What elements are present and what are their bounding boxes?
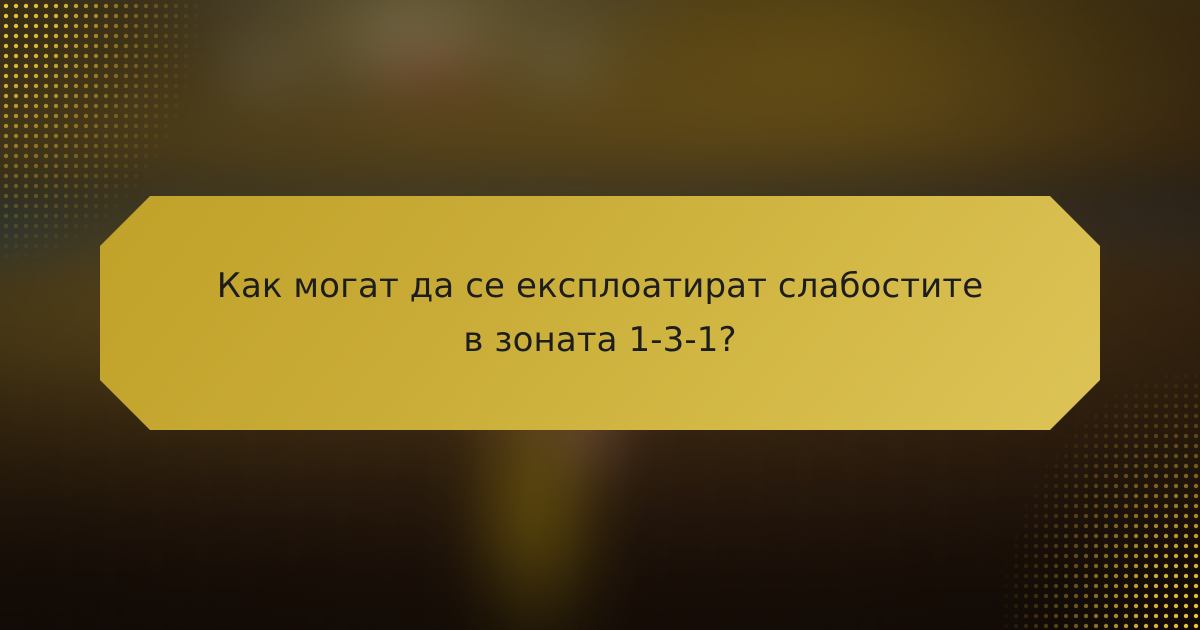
question-card: Как могат да се експлоатират слабостите … bbox=[100, 196, 1100, 430]
share-card-canvas: Как могат да се експлоатират слабостите … bbox=[0, 0, 1200, 630]
question-text: Как могат да се експлоатират слабостите … bbox=[205, 259, 995, 368]
